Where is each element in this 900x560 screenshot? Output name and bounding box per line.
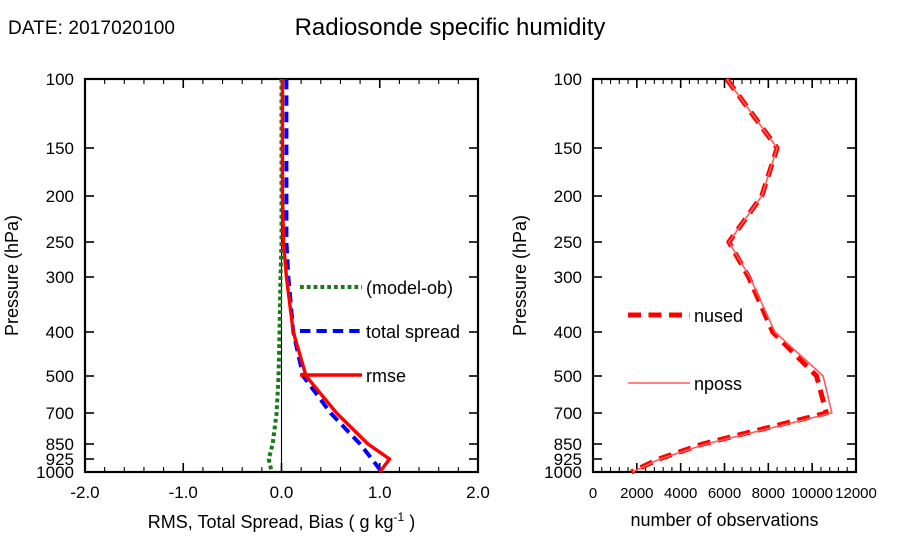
left-panel-ytick-label: 1000	[36, 463, 74, 482]
right-panel-ytick-label: 1000	[544, 463, 582, 482]
left-panel-xtick-label: 0.0	[270, 483, 294, 502]
right-panel-x-axis-title: number of observations	[630, 510, 818, 530]
left-panel-ytick-label: 150	[46, 139, 74, 158]
right-panel-ytick-label: 400	[554, 323, 582, 342]
right-panel-ytick-label: 200	[554, 187, 582, 206]
left-panel-ytick-label: 400	[46, 323, 74, 342]
left-panel-ytick-label: 200	[46, 187, 74, 206]
right-panel-ytick-label: 100	[554, 70, 582, 89]
left-panel-series--model-ob-	[269, 79, 282, 472]
left-panel-legend-label-model-ob: (model-ob)	[366, 278, 453, 298]
left-panel-xtick-label: 2.0	[466, 483, 490, 502]
right-panel-xtick-label: 2000	[620, 485, 653, 502]
left-panel-legend-label-rmse: rmse	[366, 366, 406, 386]
left-panel-y-axis-title: Pressure (hPa)	[2, 215, 22, 336]
right-panel-series-nused	[631, 79, 826, 472]
left-panel-series-rmse	[282, 79, 389, 472]
left-panel-xtick-label: -1.0	[169, 483, 198, 502]
left-panel-xtick-label: -2.0	[70, 483, 99, 502]
right-panel-legend-label-nposs: nposs	[694, 374, 742, 394]
figure-canvas: DATE: 2017020100 Radiosonde specific hum…	[0, 0, 900, 560]
right-panel-series-nposs	[632, 79, 831, 472]
right-panel-ytick-label: 150	[554, 139, 582, 158]
right-panel-y-axis-title: Pressure (hPa)	[510, 215, 530, 336]
left-panel-xtick-label: 1.0	[368, 483, 392, 502]
left-panel-x-axis-title: RMS, Total Spread, Bias ( g kg-1 )	[148, 510, 415, 532]
right-panel-xtick-label: 12000	[835, 485, 877, 502]
left-panel-series-total-spread	[286, 79, 381, 472]
left-panel-ytick-label: 250	[46, 233, 74, 252]
left-panel-legend-label-total-spread: total spread	[366, 322, 460, 342]
right-panel-xtick-label: 8000	[752, 485, 785, 502]
right-panel-plot-frame	[593, 79, 856, 472]
right-panel-xtick-label: 4000	[664, 485, 697, 502]
left-panel-ytick-label: 300	[46, 268, 74, 287]
left-panel-ytick-label: 700	[46, 404, 74, 423]
right-panel-ytick-label: 700	[554, 404, 582, 423]
right-panel-ytick-label: 250	[554, 233, 582, 252]
right-panel-xtick-label: 0	[589, 485, 597, 502]
right-panel-legend-label-nused: nused	[694, 306, 743, 326]
right-panel-xtick-label: 6000	[708, 485, 741, 502]
left-panel-ytick-label: 500	[46, 367, 74, 386]
left-panel: -2.0-1.00.01.02.010015020025030040050070…	[2, 70, 490, 532]
right-panel-xtick-label: 10000	[791, 485, 833, 502]
plot-surface: -2.0-1.00.01.02.010015020025030040050070…	[0, 0, 900, 560]
right-panel-ytick-label: 300	[554, 268, 582, 287]
left-panel-ytick-label: 100	[46, 70, 74, 89]
right-panel-ytick-label: 500	[554, 367, 582, 386]
right-panel: 0200040006000800010000120001001502002503…	[510, 70, 877, 530]
